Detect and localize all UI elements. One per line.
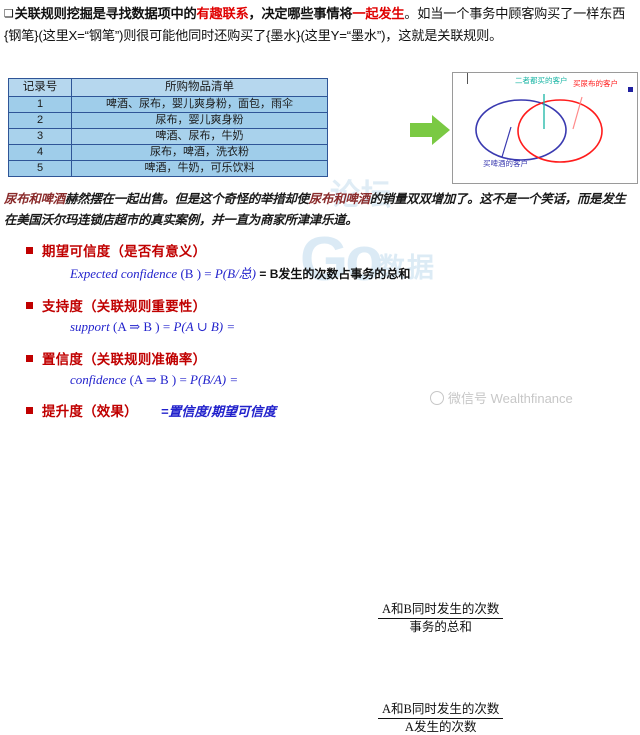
venn-label-both: 二者都买的客户 bbox=[515, 76, 568, 85]
cell-items: 啤酒、尿布，婴儿爽身粉，面包，雨伞 bbox=[72, 97, 328, 113]
list-item: 支持度（关联规则重要性） support (A ⇒ B ) = P(A ∪ B)… bbox=[0, 295, 640, 335]
venn-label-diaper: 买尿布的客户 bbox=[573, 79, 618, 88]
square-bullet-icon bbox=[26, 355, 33, 362]
bullet-lift: 提升度（效果） =置信度/期望可信度 bbox=[0, 400, 640, 420]
bullet-title: 期望可信度（是否有意义） bbox=[42, 240, 206, 260]
formula-explanation: = B发生的次数占事务的总和 bbox=[256, 267, 410, 281]
table-row: 1 啤酒、尿布，婴儿爽身粉，面包，雨伞 bbox=[9, 97, 328, 113]
venn-label-beer: 买啤酒的客户 bbox=[483, 159, 528, 168]
fraction-support: A和B同时发生的次数 事务的总和 bbox=[378, 602, 503, 635]
transaction-table-wrapper: 记录号 所购物品清单 1 啤酒、尿布，婴儿爽身粉，面包，雨伞 2 尿布，婴儿爽身… bbox=[8, 78, 328, 177]
bullet-title: 支持度（关联规则重要性） bbox=[42, 295, 206, 315]
story-text-3: 尿布和啤酒 bbox=[309, 192, 370, 206]
formula-support: support (A ⇒ B ) = P(A ∪ B) = bbox=[0, 315, 640, 335]
formula-args: (A ⇒ B ) = bbox=[110, 319, 174, 334]
intro-highlight-2: 一起发生 bbox=[352, 6, 404, 21]
cell-items: 啤酒，牛奶，可乐饮料 bbox=[72, 161, 328, 177]
venn-shapes bbox=[453, 73, 637, 183]
list-item: 期望可信度（是否有意义） Expected confidence (B ) = … bbox=[0, 240, 640, 282]
list-item: 提升度（效果） =置信度/期望可信度 bbox=[0, 400, 640, 420]
formula-name: Expected confidence bbox=[70, 266, 177, 281]
transaction-table: 记录号 所购物品清单 1 啤酒、尿布，婴儿爽身粉，面包，雨伞 2 尿布，婴儿爽身… bbox=[8, 78, 328, 177]
formula-confidence: confidence (A ⇒ B ) = P(B/A) = bbox=[0, 368, 640, 388]
fraction-denominator: A发生的次数 bbox=[378, 719, 503, 735]
formula-probability: P(B/总) bbox=[215, 266, 256, 281]
intro-bullet-icon: ❑ bbox=[4, 8, 14, 20]
formula-name: support bbox=[70, 319, 110, 334]
column-header-items: 所购物品清单 bbox=[72, 79, 328, 97]
cell-id: 1 bbox=[9, 97, 72, 113]
cell-id: 3 bbox=[9, 129, 72, 145]
intro-text-1: 关联规则挖掘是寻找数据项中的 bbox=[15, 6, 197, 21]
column-header-id: 记录号 bbox=[9, 79, 72, 97]
cell-id: 5 bbox=[9, 161, 72, 177]
venn-diagram: 二者都买的客户 买尿布的客户 买啤酒的客户 bbox=[452, 72, 638, 184]
table-header-row: 记录号 所购物品清单 bbox=[9, 79, 328, 97]
cell-items: 啤酒、尿布，牛奶 bbox=[72, 129, 328, 145]
intro-highlight-1: 有趣联系 bbox=[197, 6, 249, 21]
table-row: 5 啤酒，牛奶，可乐饮料 bbox=[9, 161, 328, 177]
list-item: 置信度（关联规则准确率） confidence (A ⇒ B ) = P(B/A… bbox=[0, 348, 640, 388]
right-arrow-icon bbox=[408, 112, 452, 148]
formula-expected-confidence: Expected confidence (B ) = P(B/总) = B发生的… bbox=[0, 260, 640, 282]
story-paragraph: 尿布和啤酒赫然摆在一起出售。但是这个奇怪的举措却使尿布和啤酒的销量双双增加了。这… bbox=[4, 189, 636, 231]
story-text-2: 赫然摆在一起出售。但是这个奇怪的举措却使 bbox=[65, 192, 309, 206]
bullet-support: 支持度（关联规则重要性） bbox=[0, 295, 640, 315]
venn-handle bbox=[628, 87, 633, 92]
formula-name: confidence bbox=[70, 372, 126, 387]
square-bullet-icon bbox=[26, 247, 33, 254]
square-bullet-icon bbox=[26, 302, 33, 309]
formula-lift: =置信度/期望可信度 bbox=[161, 401, 276, 420]
cell-id: 2 bbox=[9, 113, 72, 129]
cell-items: 尿布，婴儿爽身粉 bbox=[72, 113, 328, 129]
table-row: 2 尿布，婴儿爽身粉 bbox=[9, 113, 328, 129]
square-bullet-icon bbox=[26, 407, 33, 414]
table-row: 3 啤酒、尿布，牛奶 bbox=[9, 129, 328, 145]
formula-args: (B ) = bbox=[177, 266, 215, 281]
fraction-numerator: A和B同时发生的次数 bbox=[378, 702, 503, 719]
story-text-1: 尿布和啤酒 bbox=[4, 192, 65, 206]
fraction-confidence: A和B同时发生的次数 A发生的次数 bbox=[378, 702, 503, 735]
formula-probability: P(B/A) = bbox=[190, 372, 238, 387]
intro-text-2: ，决定哪些事情将 bbox=[248, 6, 352, 21]
intro-paragraph: ❑关联规则挖掘是寻找数据项中的有趣联系，决定哪些事情将一起发生。如当一个事务中顾… bbox=[4, 3, 632, 46]
fraction-denominator: 事务的总和 bbox=[378, 619, 503, 635]
bullet-title: 提升度（效果） bbox=[42, 400, 138, 420]
cell-id: 4 bbox=[9, 145, 72, 161]
formula-probability: P(A ∪ B) = bbox=[173, 319, 235, 334]
bullet-expected-confidence: 期望可信度（是否有意义） bbox=[0, 240, 640, 260]
bullet-title: 置信度（关联规则准确率） bbox=[42, 348, 206, 368]
bullet-confidence: 置信度（关联规则准确率） bbox=[0, 348, 640, 368]
slide-page: 论坛 Go 数据 ❑关联规则挖掘是寻找数据项中的有趣联系，决定哪些事情将一起发生… bbox=[0, 0, 640, 412]
fraction-numerator: A和B同时发生的次数 bbox=[378, 602, 503, 619]
formula-args: (A ⇒ B ) = bbox=[126, 372, 190, 387]
definitions-list: 期望可信度（是否有意义） Expected confidence (B ) = … bbox=[0, 240, 640, 420]
cell-items: 尿布，啤酒，洗衣粉 bbox=[72, 145, 328, 161]
table-row: 4 尿布，啤酒，洗衣粉 bbox=[9, 145, 328, 161]
